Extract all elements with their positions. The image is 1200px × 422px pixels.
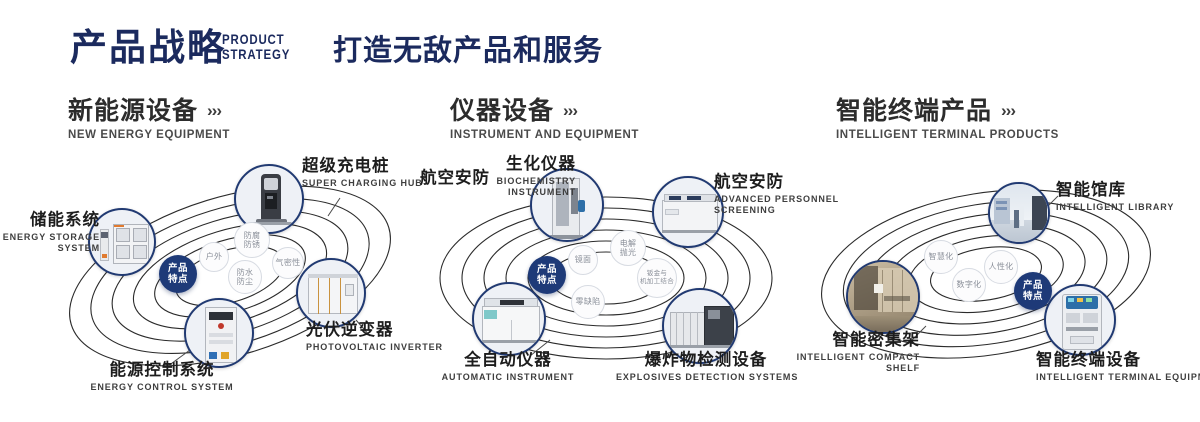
control-cabinet-illustration	[186, 300, 252, 366]
core-bubble-line2: 特点	[1023, 291, 1043, 302]
core-bubble-line2: 特点	[168, 274, 188, 285]
core-bubble-product-features[interactable]: 产品 特点	[159, 255, 197, 293]
feature-bubble-humanized[interactable]: 人性化	[984, 250, 1018, 284]
feature-bubble-electropolishing-line1: 电解	[620, 239, 637, 249]
feature-bubble-sheet-metal-machining[interactable]: 钣金与 机加工结合	[637, 258, 677, 298]
chevron-right-triple-icon: ›››	[563, 96, 577, 126]
page-title: 产品战略	[70, 26, 226, 70]
section-heading-new-energy: 新能源设备››› NEW ENERGY EQUIPMENT	[68, 96, 230, 141]
section-title-instrument-text: 仪器设备	[450, 97, 554, 125]
label-explosives-detection-systems-en: EXPLOSIVES DETECTION SYSTEMS	[616, 372, 796, 383]
label-automatic-instrument-cn: 全自动仪器	[428, 350, 588, 370]
section-title-instrument: 仪器设备›››	[450, 96, 639, 126]
label-intelligent-compact-shelf: 智能密集架 INTELLIGENT COMPACTSHELF	[780, 330, 920, 374]
label-intelligent-library-cn: 智能馆库	[1056, 180, 1174, 200]
label-intelligent-compact-shelf-en: INTELLIGENT COMPACTSHELF	[780, 352, 920, 374]
label-energy-control-system: 能源控制系统 ENERGY CONTROL SYSTEM	[72, 360, 252, 393]
node-intelligent-library[interactable]	[988, 182, 1050, 244]
section-subtitle-instrument: INSTRUMENT AND EQUIPMENT	[450, 129, 639, 141]
feature-bubble-anticorrosion-line1: 防腐	[244, 231, 261, 241]
label-biochemistry-instrument: 生化仪器 BIOCHEMISTRYINSTRUMENT	[466, 154, 576, 198]
inverter-illustration	[298, 260, 364, 326]
feature-bubble-airtightness[interactable]: 气密性	[272, 247, 304, 279]
chevron-right-triple-icon: ›››	[1001, 96, 1015, 126]
feature-bubble-anticorrosion-line2: 防锈	[244, 240, 261, 250]
label-intelligent-compact-shelf-cn: 智能密集架	[780, 330, 920, 350]
feature-bubble-electropolishing-line2: 抛光	[620, 248, 637, 258]
label-intelligent-terminal-equipment-en: INTELLIGENT TERMINAL EQUIPMENT	[1036, 372, 1200, 383]
section-title-intelligent-terminal: 智能终端产品›››	[836, 96, 1059, 126]
feature-bubble-electropolishing[interactable]: 电解 抛光	[610, 230, 646, 266]
feature-bubble-mirror-finish[interactable]: 镜面	[568, 245, 598, 275]
terminal-kiosk-illustration	[1046, 286, 1114, 354]
section-title-intelligent-terminal-text: 智能终端产品	[836, 97, 992, 125]
feature-bubble-waterproof-line2: 防尘	[237, 277, 254, 287]
compact-shelf-photo-illustration	[848, 262, 918, 332]
screening-machine-illustration	[654, 178, 722, 246]
label-explosives-detection-systems-cn: 爆炸物检测设备	[616, 350, 796, 370]
orbit-diagram-intelligent-terminal: 智慧化 数字化 人性化 产品 特点 智能馆库 INTELLIGENT LIBRA…	[790, 150, 1190, 400]
feature-bubble-digital[interactable]: 数字化	[952, 268, 986, 302]
label-biochemistry-instrument-cn: 生化仪器	[466, 154, 576, 174]
label-intelligent-terminal-equipment: 智能终端设备 INTELLIGENT TERMINAL EQUIPMENT	[1036, 350, 1200, 383]
feature-bubble-zero-defect[interactable]: 零缺陷	[571, 285, 605, 319]
label-energy-storage-system-cn: 储能系统	[0, 210, 100, 230]
feature-bubble-waterproof[interactable]: 防水 防尘	[228, 260, 262, 294]
automatic-instrument-illustration	[474, 284, 544, 354]
node-intelligent-terminal-equipment[interactable]	[1044, 284, 1116, 356]
label-biochemistry-instrument-en: BIOCHEMISTRYINSTRUMENT	[466, 176, 576, 198]
core-bubble-line1: 产品	[168, 263, 188, 274]
feature-bubble-waterproof-line1: 防水	[237, 268, 254, 278]
node-intelligent-compact-shelf[interactable]	[846, 260, 920, 334]
core-bubble-line1: 产品	[1023, 280, 1043, 291]
page-title-english-line2: STRATEGY	[222, 47, 290, 62]
library-photo-illustration	[990, 184, 1048, 242]
feature-bubble-anticorrosion[interactable]: 防腐 防锈	[234, 222, 270, 258]
label-intelligent-terminal-equipment-cn: 智能终端设备	[1036, 350, 1200, 370]
section-title-new-energy-text: 新能源设备	[68, 97, 198, 125]
core-bubble-product-features[interactable]: 产品 特点	[528, 256, 566, 294]
label-automatic-instrument: 全自动仪器 AUTOMATIC INSTRUMENT	[428, 350, 588, 383]
feature-bubble-sheet-metal-line2: 机加工结合	[640, 278, 674, 286]
node-photovoltaic-inverter[interactable]	[296, 258, 366, 328]
feature-bubble-sheet-metal-line1: 钣金与	[647, 270, 667, 278]
section-subtitle-new-energy: NEW ENERGY EQUIPMENT	[68, 129, 230, 141]
label-energy-control-system-cn: 能源控制系统	[72, 360, 252, 380]
label-energy-control-system-en: ENERGY CONTROL SYSTEM	[72, 382, 252, 393]
product-strategy-infographic: 产品战略 PRODUCT STRATEGY 打造无敌产品和服务 新能源设备›››…	[0, 0, 1200, 422]
node-automatic-instrument[interactable]	[472, 282, 546, 356]
page-subtitle: 打造无敌产品和服务	[333, 33, 603, 69]
label-energy-storage-system: 储能系统 ENERGY STORAGESYSTEM	[0, 210, 100, 254]
section-heading-intelligent-terminal: 智能终端产品››› INTELLIGENT TERMINAL PRODUCTS	[836, 96, 1059, 141]
label-energy-storage-system-en: ENERGY STORAGESYSTEM	[0, 232, 100, 254]
label-intelligent-library-en: INTELLIGENT LIBRARY	[1056, 202, 1174, 213]
page-title-english: PRODUCT STRATEGY	[222, 32, 290, 62]
section-title-new-energy: 新能源设备›››	[68, 96, 230, 126]
core-bubble-line1: 产品	[537, 264, 557, 275]
feature-bubble-outdoor[interactable]: 户外	[199, 242, 229, 272]
orbit-diagram-new-energy: 产品 特点 户外 防腐 防锈 防水 防尘 气密性 储能系统 ENERGY STO…	[40, 150, 420, 400]
chevron-right-triple-icon: ›››	[207, 96, 221, 126]
core-bubble-line2: 特点	[537, 275, 557, 286]
section-heading-instrument: 仪器设备››› INSTRUMENT AND EQUIPMENT	[450, 96, 639, 141]
orbit-diagram-instrument: 产品 特点 镜面 电解 抛光 零缺陷 钣金与 机加工结合 航空安防 生化仪器 B…	[410, 150, 800, 400]
label-explosives-detection-systems: 爆炸物检测设备 EXPLOSIVES DETECTION SYSTEMS	[616, 350, 796, 383]
core-bubble-product-features[interactable]: 产品 特点	[1014, 272, 1052, 310]
label-intelligent-library: 智能馆库 INTELLIGENT LIBRARY	[1056, 180, 1174, 213]
page-title-english-line1: PRODUCT	[222, 32, 290, 47]
section-subtitle-intelligent-terminal: INTELLIGENT TERMINAL PRODUCTS	[836, 129, 1059, 141]
node-energy-control-system[interactable]	[184, 298, 254, 368]
feature-bubble-intelligent[interactable]: 智慧化	[924, 240, 958, 274]
page-header: 产品战略 PRODUCT STRATEGY 打造无敌产品和服务	[0, 0, 1200, 88]
label-automatic-instrument-en: AUTOMATIC INSTRUMENT	[428, 372, 588, 383]
